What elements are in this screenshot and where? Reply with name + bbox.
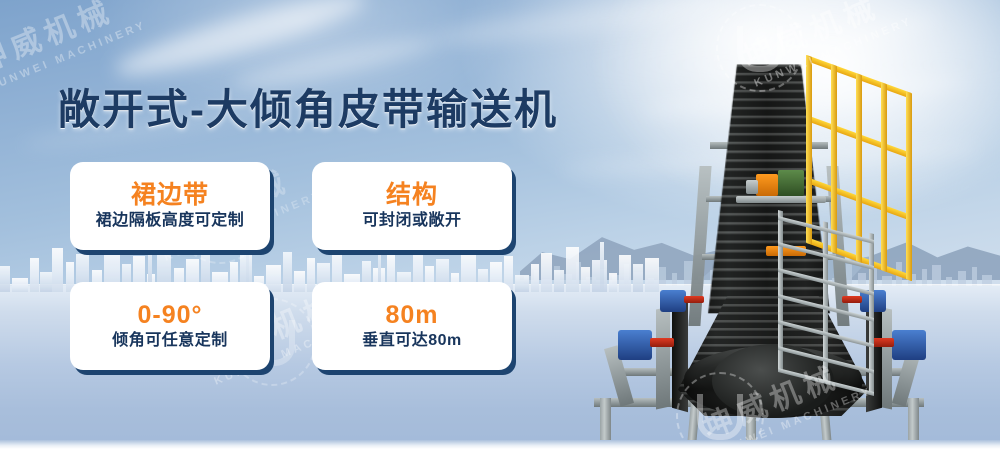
- bearing-housing-upper-left: [660, 290, 686, 312]
- product-banner: 坤威机械 KUNWEI MACHINERY 坤威机械 KUNWEI MACHIN…: [0, 0, 1000, 449]
- skyline-building: [12, 278, 28, 292]
- bottom-edge: [0, 440, 1000, 449]
- bearing-housing-left: [618, 330, 652, 360]
- control-box-orange: [756, 174, 778, 196]
- feature-card-title: 0-90°: [137, 302, 202, 329]
- feature-card-structure[interactable]: 结构 可封闭或敞开: [312, 162, 512, 250]
- feature-card-title: 结构: [386, 182, 438, 209]
- rail-post: [906, 91, 912, 281]
- feature-card-row: 裙边带 裙边隔板高度可定制 结构 可封闭或敞开: [70, 162, 540, 250]
- feature-card-height[interactable]: 80m 垂直可达80m: [312, 282, 512, 370]
- page-title: 敞开式-大倾角皮带输送机: [58, 76, 558, 137]
- rail-post: [881, 82, 887, 272]
- feature-card-grid: 裙边带 裙边隔板高度可定制 结构 可封闭或敞开 0-90° 倾角可任意定制 80…: [70, 162, 540, 402]
- feature-card-skirt-belt[interactable]: 裙边带 裙边隔板高度可定制: [70, 162, 270, 250]
- feature-card-subtitle: 倾角可任意定制: [112, 332, 228, 350]
- feature-card-title: 80m: [385, 302, 438, 329]
- shaft-coupling-upper-left: [684, 296, 704, 303]
- skyline-building: [541, 253, 552, 292]
- skyline-building: [0, 266, 10, 292]
- access-stair-platform: [778, 210, 874, 394]
- feature-card-subtitle: 可封闭或敞开: [362, 212, 461, 230]
- side-frame: [656, 307, 670, 410]
- belt-conveyor-machine: [560, 46, 1000, 449]
- skyline-building: [52, 248, 63, 292]
- gear-motor-green: [778, 170, 804, 196]
- skyline-building: [30, 258, 39, 292]
- junction-box: [746, 180, 758, 194]
- shaft-coupling-left: [650, 338, 674, 347]
- feature-card-row: 0-90° 倾角可任意定制 80m 垂直可达80m: [70, 282, 540, 370]
- feature-card-subtitle: 垂直可达80m: [362, 332, 462, 350]
- feature-card-subtitle: 裙边隔板高度可定制: [96, 212, 245, 230]
- feature-card-title: 裙边带: [131, 182, 209, 209]
- bearing-housing-right: [892, 330, 926, 360]
- feature-card-angle[interactable]: 0-90° 倾角可任意定制: [70, 282, 270, 370]
